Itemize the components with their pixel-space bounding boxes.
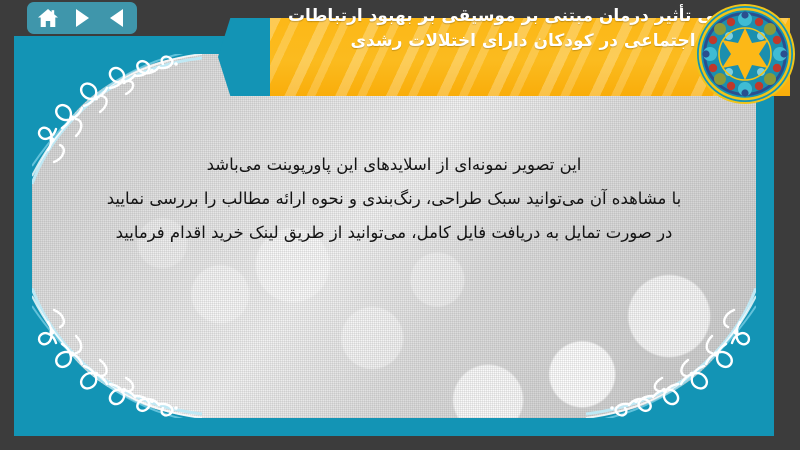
- forward-button[interactable]: [68, 5, 96, 31]
- slide-content-area: این تصویر نمونه‌ای از اسلایدهای این پاور…: [32, 54, 756, 418]
- persian-medallion-icon: [693, 2, 797, 106]
- title-banner: بررسی تأثیر درمان مبتنی بر موسیقی بر بهب…: [218, 0, 800, 104]
- body-line-1: این تصویر نمونه‌ای از اسلایدهای این پاور…: [70, 154, 718, 175]
- back-button[interactable]: [102, 5, 130, 31]
- banner-arrow-tail: [218, 18, 274, 96]
- back-arrow-icon: [110, 9, 123, 27]
- body-line-3: در صورت تمایل به دریافت فایل کامل، می‌تو…: [70, 222, 718, 243]
- navigation-bar: [27, 2, 137, 34]
- forward-arrow-icon: [76, 9, 89, 27]
- home-button[interactable]: [34, 5, 62, 31]
- home-icon: [37, 8, 59, 28]
- arabesque-corner-ornament-bottom-right: [586, 288, 756, 418]
- arabesque-corner-ornament-bottom-left: [32, 288, 202, 418]
- slide-viewer-window: این تصویر نمونه‌ای از اسلایدهای این پاور…: [0, 0, 800, 450]
- body-line-2: با مشاهده آن می‌توانید سبک طراحی، رنگ‌بن…: [70, 188, 718, 209]
- slide-body-text: این تصویر نمونه‌ای از اسلایدهای این پاور…: [70, 154, 718, 256]
